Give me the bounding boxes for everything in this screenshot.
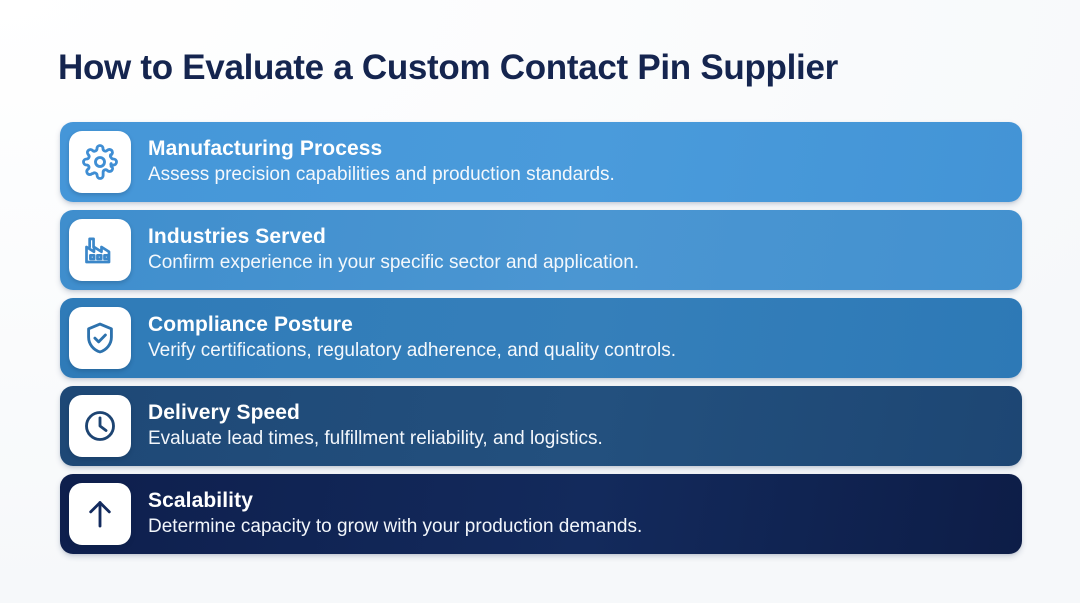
arrow-up-icon — [82, 496, 118, 532]
icon-tile — [69, 307, 131, 369]
item-texts: Manufacturing Process Assess precision c… — [148, 137, 635, 187]
criteria-list: Manufacturing Process Assess precision c… — [60, 122, 1022, 554]
item-description: Verify certifications, regulatory adhere… — [148, 340, 676, 363]
icon-tile — [69, 395, 131, 457]
item-title: Compliance Posture — [148, 313, 676, 338]
icon-tile — [69, 131, 131, 193]
shield-check-icon — [82, 320, 118, 356]
item-texts: Scalability Determine capacity to grow w… — [148, 489, 662, 539]
item-description: Confirm experience in your specific sect… — [148, 252, 639, 275]
list-item[interactable]: Compliance Posture Verify certifications… — [60, 298, 1022, 378]
icon-tile — [69, 483, 131, 545]
item-title: Industries Served — [148, 225, 639, 250]
clock-icon — [82, 408, 118, 444]
list-item[interactable]: Manufacturing Process Assess precision c… — [60, 122, 1022, 202]
list-item[interactable]: Delivery Speed Evaluate lead times, fulf… — [60, 386, 1022, 466]
infographic-page: How to Evaluate a Custom Contact Pin Sup… — [0, 0, 1080, 603]
item-description: Assess precision capabilities and produc… — [148, 164, 615, 187]
gear-icon — [82, 144, 118, 180]
item-description: Evaluate lead times, fulfillment reliabi… — [148, 428, 603, 451]
item-texts: Delivery Speed Evaluate lead times, fulf… — [148, 401, 623, 451]
item-texts: Compliance Posture Verify certifications… — [148, 313, 696, 363]
item-texts: Industries Served Confirm experience in … — [148, 225, 659, 275]
list-item[interactable]: Scalability Determine capacity to grow w… — [60, 474, 1022, 554]
icon-tile — [69, 219, 131, 281]
factory-icon — [82, 232, 118, 268]
item-title: Delivery Speed — [148, 401, 603, 426]
list-item[interactable]: Industries Served Confirm experience in … — [60, 210, 1022, 290]
page-title: How to Evaluate a Custom Contact Pin Sup… — [58, 48, 1038, 88]
item-title: Manufacturing Process — [148, 137, 615, 162]
item-title: Scalability — [148, 489, 642, 514]
item-description: Determine capacity to grow with your pro… — [148, 516, 642, 539]
